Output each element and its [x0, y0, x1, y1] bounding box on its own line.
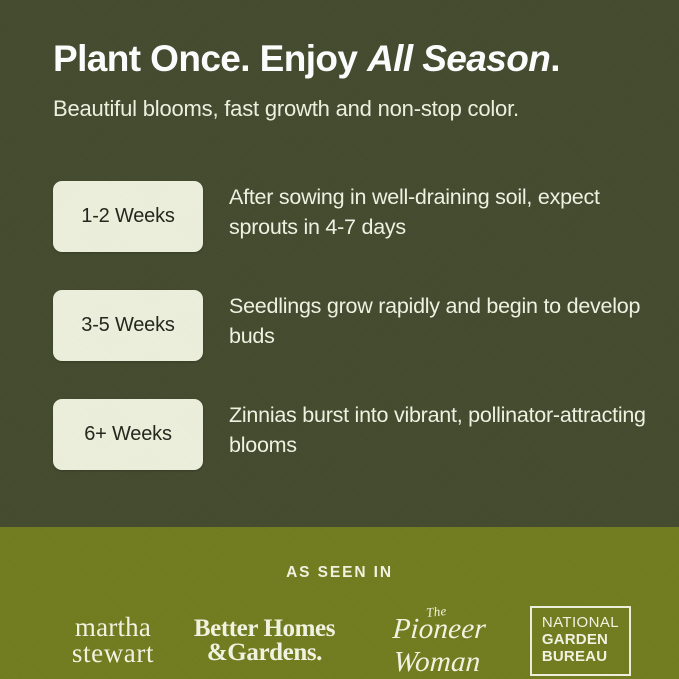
page-title: Plant Once. Enjoy All Season.	[53, 38, 639, 79]
headline-italic-text: All Season	[367, 38, 550, 79]
better-homes-and-gardens-logo: Better Homes &Gardens.	[182, 610, 347, 672]
pioneer-woman-logo: The Pioneer Woman	[351, 610, 526, 672]
timeline-row: 3-5 Weeks Seedlings grow rapidly and beg…	[53, 290, 649, 361]
bhg-logo-line2: &Gardens.	[194, 641, 335, 665]
growth-timeline-list: 1-2 Weeks After sowing in well-draining …	[53, 181, 649, 470]
timeline-badge-label: 6+ Weeks	[84, 423, 172, 446]
headline-period: .	[550, 38, 560, 79]
timeline-badge-2: 3-5 Weeks	[53, 290, 203, 361]
timeline-row: 6+ Weeks Zinnias burst into vibrant, pol…	[53, 399, 649, 470]
headline-primary-text: Plant Once. Enjoy	[53, 38, 367, 79]
timeline-badge-label: 1-2 Weeks	[81, 205, 174, 228]
pioneer-woman-logo-name: Pioneer Woman	[348, 603, 528, 679]
timeline-row: 1-2 Weeks After sowing in well-draining …	[53, 181, 649, 252]
timeline-badge-1: 1-2 Weeks	[53, 181, 203, 252]
national-garden-bureau-logo: NATIONAL GARDEN BUREAU	[530, 606, 631, 675]
timeline-badge-label: 3-5 Weeks	[81, 314, 174, 337]
national-garden-bureau-logo-wrap: NATIONAL GARDEN BUREAU	[530, 610, 631, 672]
martha-stewart-logo-line2: stewart	[72, 641, 154, 667]
page-subtitle: Beautiful blooms, fast growth and non-st…	[53, 96, 639, 122]
timeline-description: Zinnias burst into vibrant, pollinator-a…	[229, 399, 649, 460]
martha-stewart-logo: martha stewart	[48, 610, 178, 672]
promo-poster: Plant Once. Enjoy All Season. Beautiful …	[0, 0, 679, 679]
timeline-badge-3: 6+ Weeks	[53, 399, 203, 470]
press-logo-row: martha stewart Better Homes &Gardens. Th…	[0, 610, 679, 672]
as-seen-in-footer: AS SEEN IN martha stewart Better Homes &…	[0, 527, 679, 679]
as-seen-in-heading: AS SEEN IN	[286, 564, 393, 582]
ngb-logo-line2: GARDEN	[542, 632, 619, 649]
timeline-description: Seedlings grow rapidly and begin to deve…	[229, 290, 649, 351]
bhg-logo-line1: Better Homes	[194, 617, 335, 641]
main-content-panel: Plant Once. Enjoy All Season. Beautiful …	[0, 0, 679, 527]
ngb-logo-line1: NATIONAL	[542, 615, 619, 632]
ngb-logo-line3: BUREAU	[542, 649, 619, 666]
timeline-description: After sowing in well-draining soil, expe…	[229, 181, 649, 242]
